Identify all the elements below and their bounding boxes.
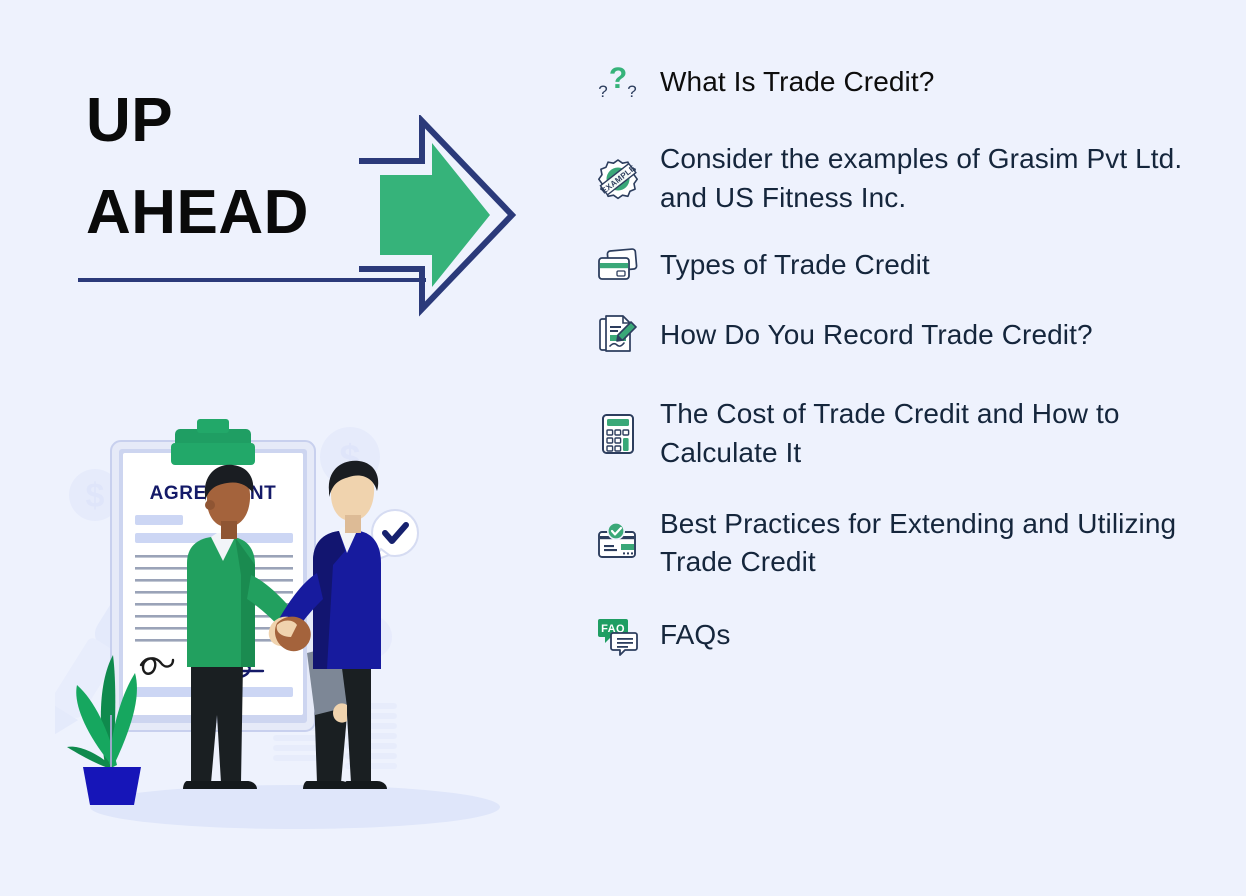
svg-text:?: ?	[609, 62, 627, 95]
handshake-agreement-illustration: $ $ $	[55, 415, 535, 845]
left-panel: UP AHEAD $ $	[0, 0, 580, 896]
calculator-icon	[596, 410, 640, 458]
toc-item-faqs[interactable]: FAQ FAQs	[596, 612, 1226, 660]
table-of-contents-list: ? ? ? What Is Trade Credit? EXAMPLE Cons…	[596, 58, 1226, 660]
svg-text:?: ?	[598, 82, 607, 101]
credit-cards-icon	[596, 241, 640, 289]
toc-item-best-practices[interactable]: Best Practices for Extending and Utilizi…	[596, 505, 1226, 582]
toc-item-label: The Cost of Trade Credit and How to Calc…	[660, 395, 1226, 472]
toc-item-consider-examples[interactable]: EXAMPLE Consider the examples of Grasim …	[596, 140, 1226, 217]
toc-item-types-of-trade-credit[interactable]: Types of Trade Credit	[596, 241, 1226, 289]
toc-item-label: Consider the examples of Grasim Pvt Ltd.…	[660, 140, 1226, 217]
toc-item-label: How Do You Record Trade Credit?	[660, 316, 1093, 355]
page-title-line-1: UP	[86, 90, 173, 152]
faq-bubble-icon: FAQ	[596, 612, 640, 660]
toc-item-label: FAQs	[660, 616, 730, 655]
toc-item-label: Types of Trade Credit	[660, 246, 930, 285]
document-pencil-icon	[596, 311, 640, 359]
ground-shadow	[90, 785, 500, 829]
verified-card-icon	[596, 519, 640, 567]
page-title-line-2: AHEAD	[86, 182, 309, 244]
toc-item-label: What Is Trade Credit?	[660, 63, 934, 102]
svg-text:?: ?	[627, 82, 636, 101]
toc-item-cost-of-trade-credit[interactable]: The Cost of Trade Credit and How to Calc…	[596, 395, 1226, 472]
svg-text:$: $	[86, 477, 105, 515]
toc-item-how-do-you-record[interactable]: How Do You Record Trade Credit?	[596, 311, 1226, 359]
toc-item-what-is-trade-credit[interactable]: ? ? ? What Is Trade Credit?	[596, 58, 1226, 106]
right-arrow-icon	[350, 115, 520, 320]
question-marks-icon: ? ? ?	[596, 58, 640, 106]
toc-item-label: Best Practices for Extending and Utilizi…	[660, 505, 1226, 582]
example-badge-icon: EXAMPLE	[596, 155, 640, 203]
